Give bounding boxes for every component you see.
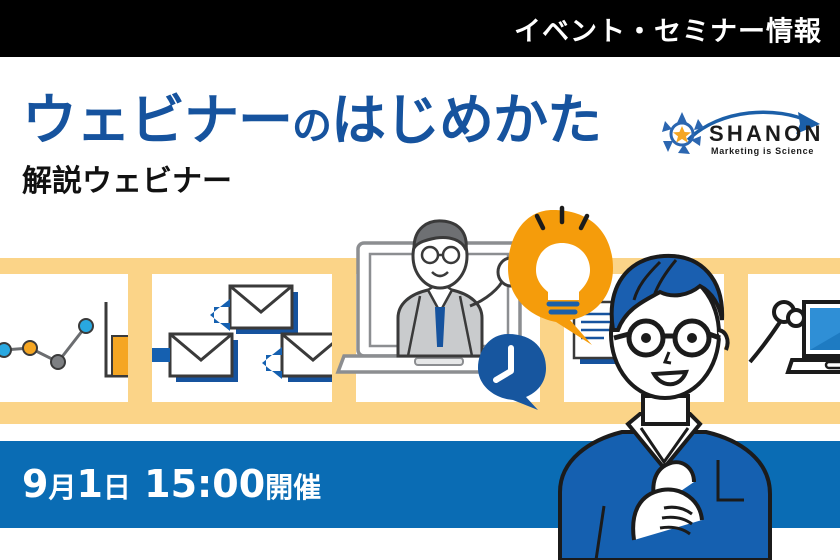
shanon-wordmark: SHANON — [709, 121, 824, 147]
date-day: 1 — [76, 462, 102, 506]
date-month: 9 — [22, 462, 48, 506]
envelopes-with-arrows-icon — [152, 274, 332, 402]
documents-upload-arrow-icon — [564, 274, 724, 402]
laptop-cursor-card — [748, 274, 840, 402]
webinar-presenter-card — [356, 274, 540, 402]
date-day-unit: 日 — [103, 471, 131, 504]
document-upload-card — [564, 274, 724, 402]
category-label: イベント・セミナー情報 — [514, 9, 822, 48]
event-time: 15:00 — [144, 462, 265, 506]
page-subtitle: 解説ウェビナー — [22, 156, 662, 200]
title-part-2: はじめかた — [331, 88, 601, 152]
page-title: ウェビナーのはじめかた — [22, 92, 662, 148]
icon-strip-band — [0, 258, 840, 424]
date-month-unit: 月 — [48, 471, 76, 504]
event-suffix: 開催 — [265, 471, 321, 504]
headline-block: ウェビナーのはじめかた 解説ウェビナー — [22, 92, 662, 200]
line-and-bar-chart-icon — [0, 274, 128, 402]
bottom-white-strip — [0, 528, 840, 560]
event-date-text: 9月1日 15:00開催 — [22, 462, 321, 506]
category-banner: イベント・セミナー情報 — [0, 0, 840, 57]
shanon-tagline: Marketing is Science — [711, 146, 814, 156]
shanon-logo: SHANON Marketing is Science — [660, 110, 832, 168]
title-part-1: ウェビナー — [22, 88, 292, 152]
webinar-announcement-banner: イベント・セミナー情報 — [0, 0, 840, 560]
laptop-cursor-icon — [748, 274, 840, 402]
analytics-chart-card — [0, 274, 128, 402]
email-flow-card — [152, 274, 332, 402]
title-particle: の — [292, 103, 331, 149]
